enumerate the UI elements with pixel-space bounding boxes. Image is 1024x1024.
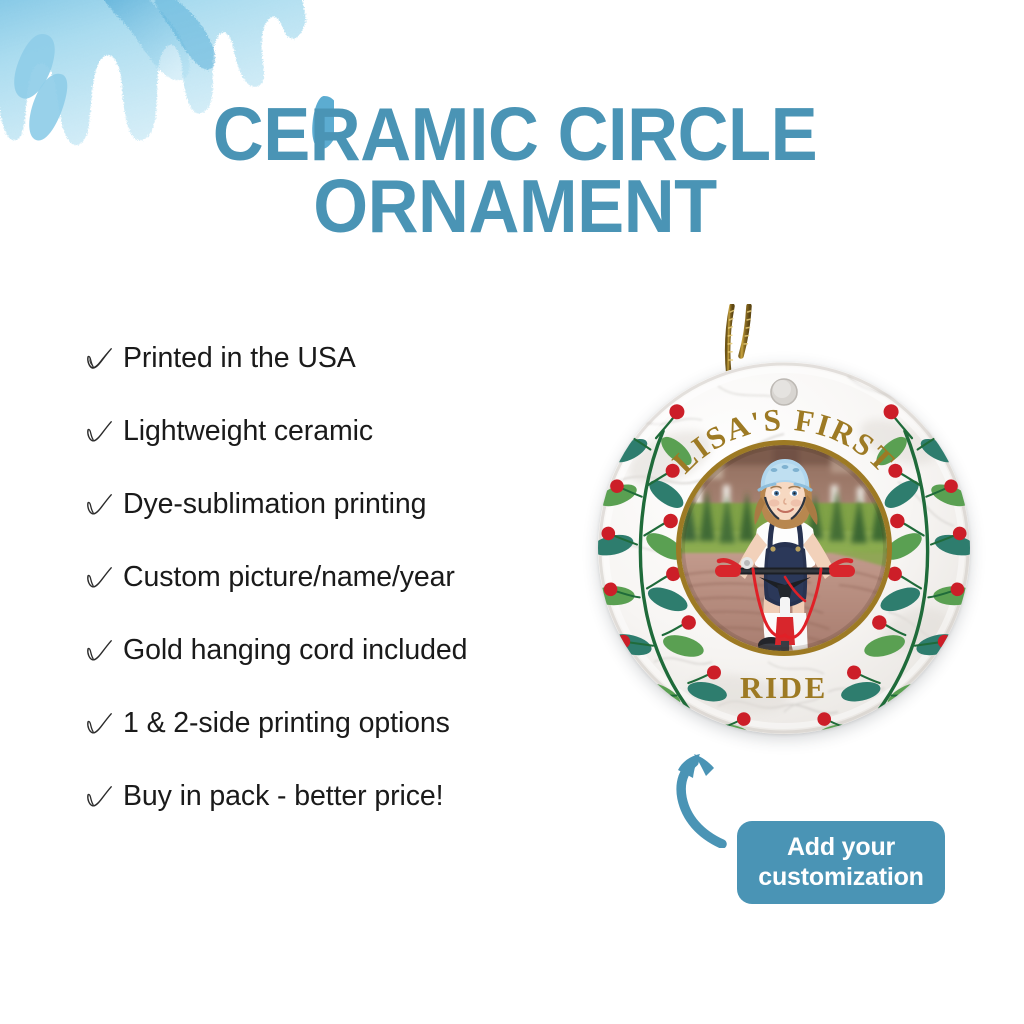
check-outline-icon — [84, 639, 114, 663]
list-item-label: Lightweight ceramic — [123, 415, 373, 448]
page-title: CERAMIC CIRCLE ORNAMENT — [191, 98, 840, 242]
list-item-label: Custom picture/name/year — [123, 561, 455, 594]
check-outline-icon — [84, 566, 114, 590]
list-item-label: Printed in the USA — [123, 342, 356, 375]
list-item: Dye-sublimation printing — [84, 468, 554, 541]
feature-list: Printed in the USA Lightweight ceramic D… — [84, 322, 554, 833]
product-feature-graphic: CERAMIC CIRCLE ORNAMENT Printed in the U… — [0, 0, 1024, 1024]
check-outline-icon — [84, 347, 114, 371]
ornament-product-image: LISA'S FIRST RIDE — [578, 300, 988, 760]
list-item: 1 & 2-side printing options — [84, 687, 554, 760]
list-item-label: Dye-sublimation printing — [123, 488, 426, 521]
list-item-label: Gold hanging cord included — [123, 634, 467, 667]
list-item: Gold hanging cord included — [84, 614, 554, 687]
badge-line-1: Add your — [787, 833, 895, 863]
add-customization-badge[interactable]: Add your customization — [737, 821, 945, 904]
list-item: Printed in the USA — [84, 322, 554, 395]
page-title-line-2: ORNAMENT — [191, 170, 840, 242]
list-item-label: Buy in pack - better price! — [123, 780, 443, 813]
check-outline-icon — [84, 493, 114, 517]
check-outline-icon — [84, 712, 114, 736]
list-item: Buy in pack - better price! — [84, 760, 554, 833]
list-item-label: 1 & 2-side printing options — [123, 707, 450, 740]
list-item: Custom picture/name/year — [84, 541, 554, 614]
ceramic-disc: LISA'S FIRST RIDE — [598, 362, 970, 734]
girl-on-bike-photo — [681, 445, 887, 651]
badge-line-2: customization — [758, 863, 923, 893]
list-item: Lightweight ceramic — [84, 395, 554, 468]
check-outline-icon — [84, 785, 114, 809]
customer-photo — [681, 445, 887, 651]
check-outline-icon — [84, 420, 114, 444]
